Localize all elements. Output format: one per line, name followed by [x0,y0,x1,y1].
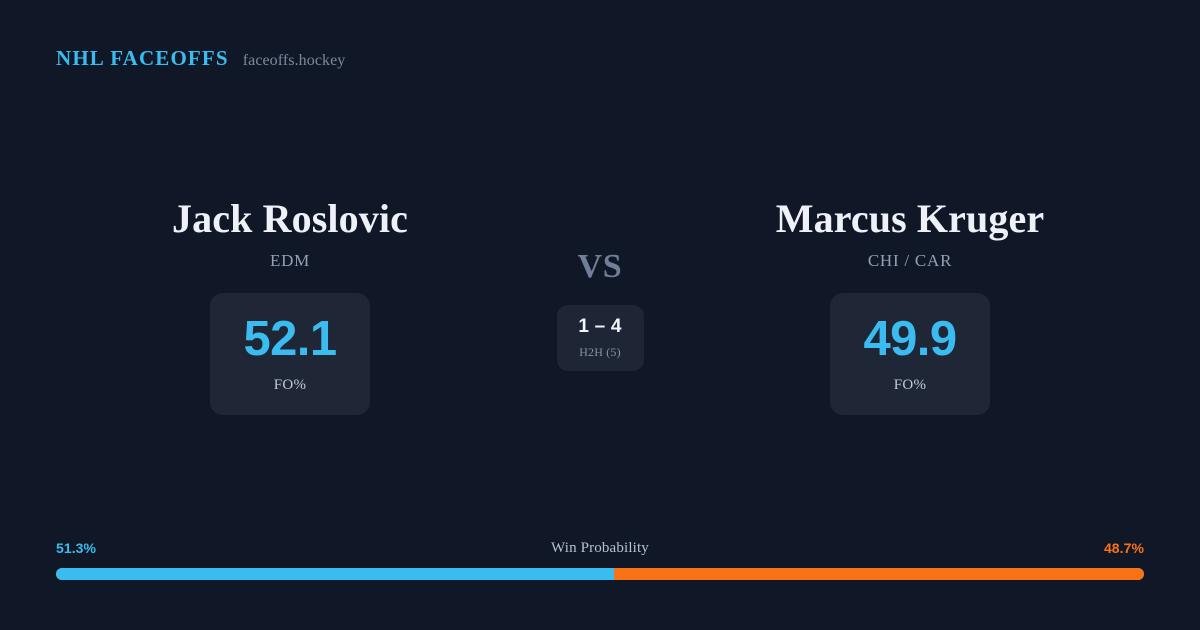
win-probability-section: 51.3% Win Probability 48.7% [56,538,1144,580]
versus-label: VS [500,250,700,284]
matchup-graphic: NHL FACEOFFS faceoffs.hockey Jack Roslov… [0,0,1200,630]
player-left-name: Jack Roslovic [80,196,500,242]
player-left-team: EDM [80,251,500,271]
matchup-section: Jack Roslovic EDM 52.1 FO% VS 1 – 4 H2H … [0,196,1200,436]
win-probability-bar-left [56,568,614,580]
player-right-stat-label: FO% [894,377,927,394]
player-right-team: CHI / CAR [700,251,1120,271]
versus-column: VS 1 – 4 H2H (5) [500,250,700,371]
win-probability-title: Win Probability [56,538,1144,558]
player-left: Jack Roslovic EDM 52.1 FO% [80,196,500,415]
player-right-stat-value: 49.9 [863,315,956,364]
header: NHL FACEOFFS faceoffs.hockey [56,48,345,69]
win-probability-bar-right [614,568,1144,580]
win-probability-bar [56,568,1144,580]
head-to-head-label: H2H (5) [579,345,621,360]
win-probability-right-value: 48.7% [1104,538,1144,558]
player-right: Marcus Kruger CHI / CAR 49.9 FO% [700,196,1120,415]
player-right-stat-card: 49.9 FO% [830,293,990,415]
head-to-head-badge: 1 – 4 H2H (5) [557,305,644,371]
head-to-head-record: 1 – 4 [578,317,621,336]
brand-domain: faceoffs.hockey [243,53,346,69]
player-left-stat-label: FO% [274,377,307,394]
player-left-stat-value: 52.1 [243,315,336,364]
win-probability-header: 51.3% Win Probability 48.7% [56,538,1144,558]
player-right-name: Marcus Kruger [700,196,1120,242]
brand-title: NHL FACEOFFS [56,48,229,69]
player-left-stat-card: 52.1 FO% [210,293,370,415]
